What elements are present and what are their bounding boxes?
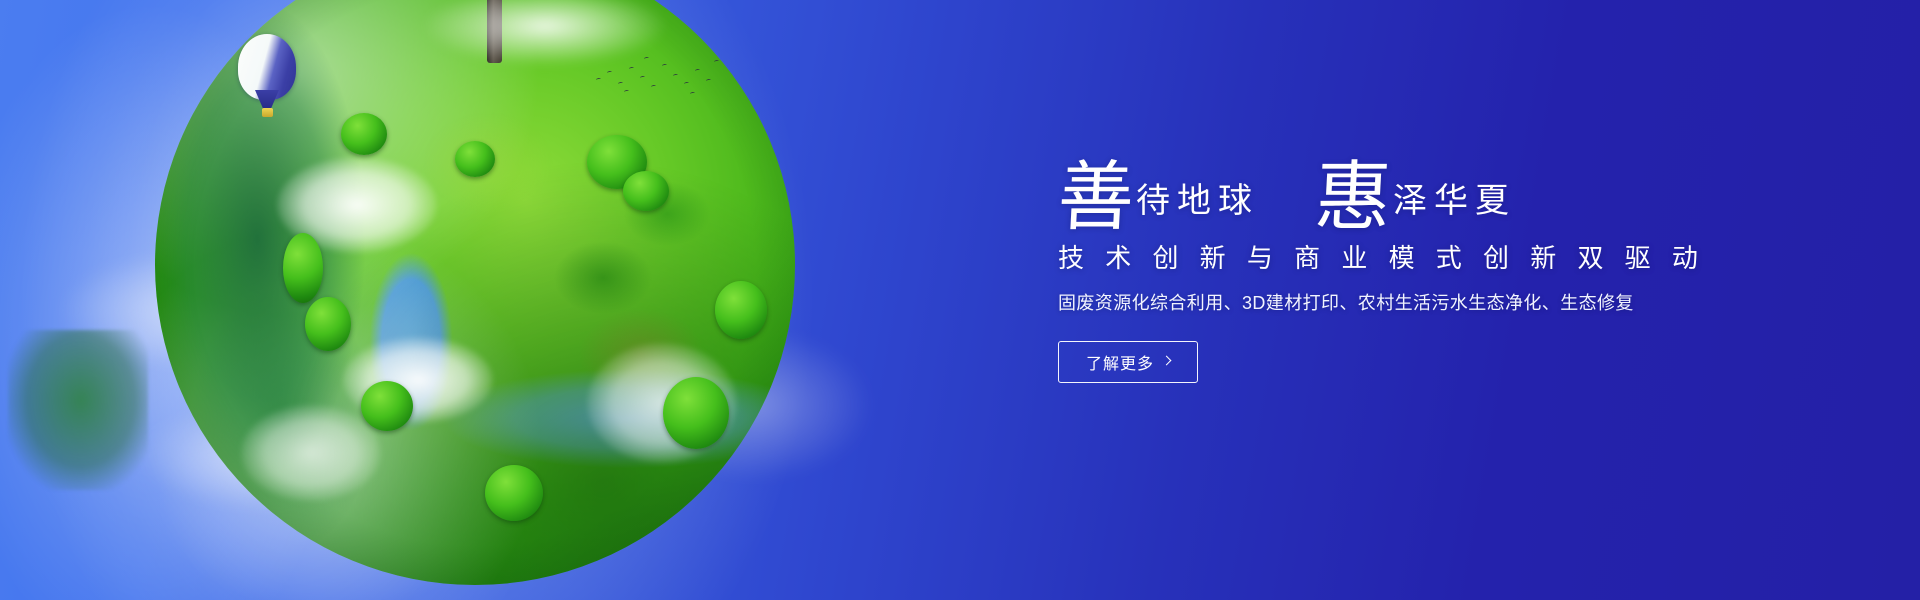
headline-part-2: 泽华夏 <box>1393 184 1516 232</box>
cloud-icon <box>343 337 493 423</box>
tree-icon <box>455 141 495 177</box>
cloud-icon <box>277 157 437 253</box>
hero-banner: 善 待地球 惠 泽华夏 技 术 创 新 与 商 业 模 式 创 新 双 驱 动 … <box>0 0 1920 600</box>
tree-trunk <box>487 0 502 63</box>
tree-silhouette-icon <box>8 330 148 490</box>
cloud-icon <box>140 400 400 510</box>
cloud-icon <box>241 405 381 501</box>
headline-char-1: 善 <box>1056 162 1136 232</box>
cloud-icon <box>587 343 737 463</box>
page-title: 善 待地球 惠 泽华夏 <box>1058 140 1798 232</box>
learn-more-label: 了解更多 <box>1086 350 1154 374</box>
tree-icon <box>361 381 413 431</box>
tree-icon <box>341 113 387 155</box>
balloon-basket <box>262 108 273 117</box>
headline-char-2: 惠 <box>1313 162 1393 232</box>
hero-copy: 善 待地球 惠 泽华夏 技 术 创 新 与 商 业 模 式 创 新 双 驱 动 … <box>1058 140 1798 383</box>
chevron-right-icon <box>1162 356 1172 366</box>
tree-icon <box>623 171 669 211</box>
tree-icon <box>485 465 543 521</box>
flying-birds-icon <box>594 52 724 98</box>
page-description: 固废资源化综合利用、3D建材打印、农村生活污水生态净化、生态修复 <box>1058 291 1798 316</box>
balloon-skirt <box>255 90 279 110</box>
tree-icon <box>305 297 351 351</box>
hot-air-balloon-icon <box>238 34 300 120</box>
tree-icon <box>663 377 729 449</box>
cloud-icon <box>640 330 870 480</box>
tree-icon <box>587 135 647 189</box>
tree-icon <box>715 281 767 339</box>
page-subtitle: 技 术 创 新 与 商 业 模 式 创 新 双 驱 动 <box>1058 242 1798 275</box>
tree-icon <box>283 233 323 303</box>
headline-part-1: 待地球 <box>1136 184 1259 232</box>
learn-more-button[interactable]: 了解更多 <box>1058 341 1198 383</box>
